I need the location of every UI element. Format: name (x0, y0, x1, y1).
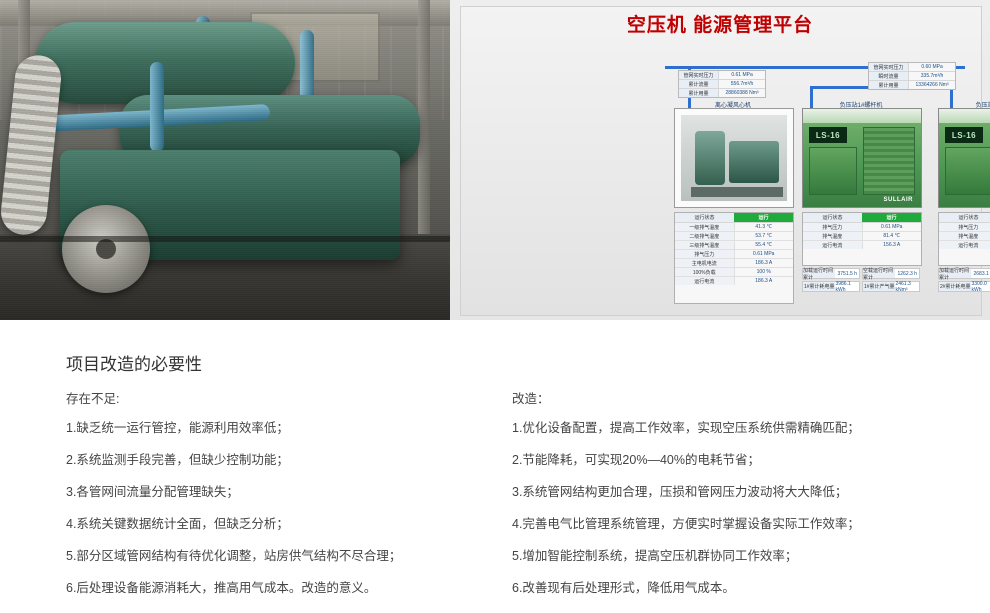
s1-k0: 排气压力 (803, 223, 863, 231)
screw1-door (809, 147, 857, 195)
screw2-lcd: LS-16 (945, 127, 983, 143)
centrifugal-status-panel: 运行状态 运行 一级排气温度41.3 ℃ 二级排气温度53.7 ℃ 三级排气温度… (674, 212, 794, 304)
c1-k2: 1#累计耗电量 (803, 282, 835, 291)
industrial-air-compressor-photo (0, 0, 450, 320)
right-lead: 改造： (512, 388, 962, 407)
cs-k1: 二级排气温度 (675, 232, 735, 240)
top-media-row: 空压机 能源管理平台 管网实时压力0.61 MPa 累计流量556.7m³/h … (0, 0, 990, 320)
right-item-5: 5.增加智能控制系统，提高空压机群协同工作效率； (512, 549, 962, 564)
right-item-3: 3.系统管网结构更加合理，压损和管网压力波动将大大降低； (512, 485, 962, 500)
right-item-2: 2.节能降耗，可实现20%—40%的电耗节省； (512, 453, 962, 468)
screw2-top-panel (939, 109, 990, 123)
cs-v1: 53.7 ℃ (735, 232, 794, 240)
cs-k3: 排气压力 (675, 250, 735, 258)
screw1-brand: SULLAIR (884, 197, 914, 203)
centrifugal-image-inner (681, 115, 787, 201)
scada-title: 空压机 能源管理平台 (450, 10, 990, 37)
screw1-status-header: 运行状态 运行 (803, 213, 921, 223)
left-lead: 存在不足: (66, 388, 486, 407)
screw-compressor-1-image[interactable]: LS-16 SULLAIR (802, 108, 922, 208)
cs-v0: 41.3 ℃ (735, 223, 794, 231)
screw2-door (945, 147, 990, 195)
screw1-status-panel: 运行状态 运行 排气压力0.61 MPa 排气温度81.4 ℃ 运行电流156.… (802, 212, 922, 266)
photo-flywheel (62, 205, 150, 293)
cs-k4: 主电机电流 (675, 259, 735, 267)
screw1-vent (863, 127, 915, 195)
left-item-4: 4.系统关键数据统计全面，但缺乏分析； (66, 517, 486, 532)
c1-k3: 1#累计产气量 (863, 282, 895, 291)
centrifugal-compressor-image[interactable] (674, 108, 794, 208)
screw1-top-panel (803, 109, 921, 123)
pipe1-key-2: 累计用量 (679, 89, 719, 97)
pipe-info-panel-2: 管网实时压力0.60 MPa 瞬时流量335.7m³/h 累计用量1336426… (868, 62, 956, 90)
scada-screenshot: 空压机 能源管理平台 管网实时压力0.61 MPa 累计流量556.7m³/h … (450, 0, 990, 320)
pipe2-key-1: 瞬时流量 (869, 72, 909, 80)
screw-compressor-2-image[interactable]: LS-16 SULLAIR (938, 108, 990, 208)
c1-k0: 加载运行时间累计 (803, 269, 835, 278)
c1-k1: 空载运行时间累计 (863, 269, 895, 278)
c2-v2: 3300.0 kWh (971, 282, 990, 291)
photo-pressure-vessel (35, 22, 295, 104)
content-section: 项目改造的必要性 存在不足: 1.缺乏统一运行管控，能源利用效率低； 2.系统监… (0, 320, 990, 586)
pipe1-val-1: 556.7m³/h (719, 80, 765, 88)
right-item-1: 1.优化设备配置，提高工作效率，实现空压系统供需精确匹配； (512, 421, 962, 436)
left-item-1: 1.缺乏统一运行管控，能源利用效率低； (66, 421, 486, 436)
s1-v1: 81.4 ℃ (863, 232, 922, 240)
pipe1-key-0: 管网实时压力 (679, 71, 719, 79)
cs-k5: 100%负载 (675, 268, 735, 276)
photo-floor-rail (0, 236, 450, 242)
centrifugal-status-header: 运行状态 运行 (675, 213, 793, 223)
column-left: 存在不足: 1.缺乏统一运行管控，能源利用效率低； 2.系统监测手段完善，但缺少… (66, 388, 486, 613)
left-item-2: 2.系统监测手段完善，但缺少控制功能； (66, 453, 486, 468)
right-item-4: 4.完善电气比管理系统管理，方便实时掌握设备实际工作效率； (512, 517, 962, 532)
photo-pipe-vertical-left (150, 62, 164, 152)
pipe1-key-1: 累计流量 (679, 80, 719, 88)
screw2-counter-grid: 加载运行时间累计2683.1 h 空载运行时间累计1066.0 h 2#累计耗电… (938, 268, 990, 292)
c1-v0: 3751.5 h (835, 269, 859, 278)
s2-k2: 运行电流 (939, 241, 990, 249)
screw2-status-key: 运行状态 (939, 213, 990, 222)
pipe2-val-2: 13364266 Nm³ (909, 81, 955, 89)
screw1-counter-grid: 加载运行时间累计3751.5 h 空载运行时间累计1262.3 h 1#累计耗电… (802, 268, 920, 292)
s1-v0: 0.61 MPa (863, 223, 922, 231)
c2-k0: 加载运行时间累计 (939, 269, 971, 278)
c1-v3: 2461.3 kNm³ (895, 282, 919, 291)
c1-v2: 3986.1 kWh (835, 282, 859, 291)
centrifugal-status-key: 运行状态 (675, 213, 734, 222)
screw2-status-panel: 运行状态 停机 排气压力0.00 MPa 排气温度40.4 ℃ 运行电流0.0 … (938, 212, 990, 266)
c2-v0: 2683.1 h (971, 269, 990, 278)
cs-v3: 0.61 MPa (735, 250, 794, 258)
c2-k2: 2#累计耗电量 (939, 282, 971, 291)
cs-v2: 55.4 ℃ (735, 241, 794, 249)
page-title: 项目改造的必要性 (66, 350, 202, 375)
cs-k0: 一级排气温度 (675, 223, 735, 231)
centrifugal-tank (695, 131, 725, 185)
screw2-status-header: 运行状态 停机 (939, 213, 990, 223)
cs-k6: 运行电流 (675, 277, 735, 285)
cs-v5: 100 % (735, 268, 794, 276)
s1-k1: 排气温度 (803, 232, 863, 240)
centrifugal-base (691, 187, 783, 197)
pipe2-val-1: 335.7m³/h (909, 72, 955, 80)
c1-v1: 1262.3 h (895, 269, 919, 278)
pipe2-val-0: 0.60 MPa (909, 63, 955, 71)
cs-v4: 186.3 A (735, 259, 794, 267)
left-item-3: 3.各管网间流量分配管理缺失； (66, 485, 486, 500)
pipe2-key-0: 管网实时压力 (869, 63, 909, 71)
s2-k1: 排气温度 (939, 232, 990, 240)
centrifugal-status-badge: 运行 (734, 213, 793, 222)
column-right: 改造： 1.优化设备配置，提高工作效率，实现空压系统供需精确匹配； 2.节能降耗… (512, 388, 962, 613)
right-item-6: 6.改善现有后处理形式，降低用气成本。 (512, 581, 962, 596)
pipe1-val-2: 28860388 Nm³ (719, 89, 765, 97)
pipe-info-panel-1: 管网实时压力0.61 MPa 累计流量556.7m³/h 累计用量2886038… (678, 70, 766, 98)
cs-v6: 186.3 A (735, 277, 794, 285)
s1-k2: 运行电流 (803, 241, 863, 249)
pipe2-key-2: 累计用量 (869, 81, 909, 89)
pipe1-val-0: 0.61 MPa (719, 71, 765, 79)
screw1-status-badge: 运行 (862, 213, 921, 222)
s1-v2: 156.3 A (863, 241, 922, 249)
screw1-lcd: LS-16 (809, 127, 847, 143)
s2-k0: 排气压力 (939, 223, 990, 231)
cs-k2: 三级排气温度 (675, 241, 735, 249)
left-item-5: 5.部分区域管网结构有待优化调整，站房供气结构不尽合理； (66, 549, 486, 564)
left-item-6: 6.后处理设备能源消耗大，推高用气成本。改造的意义。 (66, 581, 486, 596)
centrifugal-block (729, 141, 779, 183)
screw1-status-key: 运行状态 (803, 213, 862, 222)
